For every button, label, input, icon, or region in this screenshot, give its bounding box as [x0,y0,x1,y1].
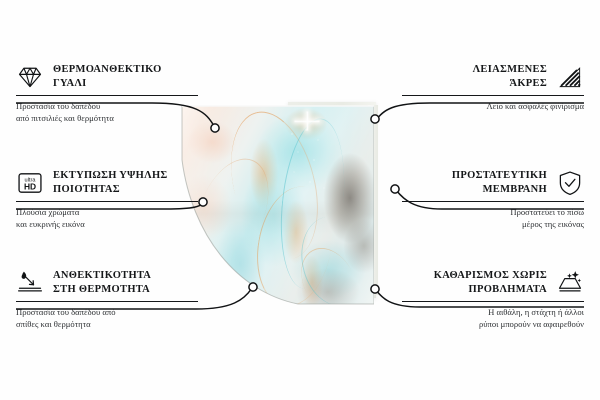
feature-title: ΠΡΟΣΤΑΤΕΥΤΙΚΗ ΜΕΜΒΡΑΝΗ [402,169,547,197]
diamond-icon [16,63,44,91]
ultra-hd-badge-bottom-text: HD [24,182,36,192]
glass-panel [178,96,374,306]
feature-header: ΠΡΟΣΤΑΤΕΥΤΙΚΗ ΜΕΜΒΡΑΝΗ [402,168,584,198]
feature-subtitle: Λείο και ασφαλές φινίρισμα [402,100,584,112]
feature-header: ΘΕΡΜΟΑΝΘΕΚΤΙΚΟ ΓΥΑΛΙ [16,62,198,92]
shield-check-icon [556,169,584,197]
glass-reflection-band [178,200,374,234]
feature-divider [16,201,198,202]
product-image [178,96,400,308]
feature-subtitle: Η αιθάλη, η στάχτη ή άλλοι ρύποι μπορούν… [402,306,584,330]
feature-header: ultra HD ΕΚΤΥΠΩΣΗ ΥΨΗΛΗΣ ΠΟΙΟΤΗΤΑΣ [16,168,198,198]
feature-title: ΘΕΡΜΟΑΝΘΕΚΤΙΚΟ ΓΥΑΛΙ [53,63,198,91]
sparkle-clean-surface-icon [556,269,584,297]
feature-header: ΚΑΘΑΡΙΣΜΟΣ ΧΩΡΙΣ ΠΡΟΒΛΗΜΑΤΑ [402,268,584,298]
feature-subtitle: Προστασία του δαπέδου από σπίθες και θερ… [16,306,198,330]
polished-edges-icon [556,63,584,91]
feature-high-quality-print: ultra HD ΕΚΤΥΠΩΣΗ ΥΨΗΛΗΣ ΠΟΙΟΤΗΤΑΣ Πλούσ… [16,168,198,230]
feature-protective-membrane: ΠΡΟΣΤΑΤΕΥΤΙΚΗ ΜΕΜΒΡΑΝΗ Προστατεύει το πί… [402,168,584,230]
feature-divider [16,301,198,302]
ultra-hd-badge-icon: ultra HD [16,169,44,197]
flame-heat-resistance-icon [16,269,44,297]
feature-heat-resistant-glass: ΘΕΡΜΟΑΝΘΕΚΤΙΚΟ ΓΥΑΛΙ Προστασία του δαπέδ… [16,62,198,124]
feature-title: ΕΚΤΥΠΩΣΗ ΥΨΗΛΗΣ ΠΟΙΟΤΗΤΑΣ [53,169,198,197]
feature-polished-edges: ΛΕΙΑΣΜΕΝΕΣ ΆΚΡΕΣ Λείο και ασφαλές φινίρι… [402,62,584,112]
feature-title: ΑΝΘΕΚΤΙΚΟΤΗΤΑ ΣΤΗ ΘΕΡΜΟΤΗΤΑ [53,269,198,297]
feature-header: ΛΕΙΑΣΜΕΝΕΣ ΆΚΡΕΣ [402,62,584,92]
feature-divider [402,301,584,302]
infographic-canvas: ΘΕΡΜΟΑΝΘΕΚΤΙΚΟ ΓΥΑΛΙ Προστασία του δαπέδ… [0,0,600,400]
feature-easy-cleaning: ΚΑΘΑΡΙΣΜΟΣ ΧΩΡΙΣ ΠΡΟΒΛΗΜΑΤΑ Η αιθάλη, η … [402,268,584,330]
feature-heat-resistance: ΑΝΘΕΚΤΙΚΟΤΗΤΑ ΣΤΗ ΘΕΡΜΟΤΗΤΑ Προστασία το… [16,268,198,330]
feature-divider [16,95,198,96]
feature-divider [402,95,584,96]
feature-divider [402,201,584,202]
feature-title: ΛΕΙΑΣΜΕΝΕΣ ΆΚΡΕΣ [402,63,547,91]
feature-header: ΑΝΘΕΚΤΙΚΟΤΗΤΑ ΣΤΗ ΘΕΡΜΟΤΗΤΑ [16,268,198,298]
feature-title: ΚΑΘΑΡΙΣΜΟΣ ΧΩΡΙΣ ΠΡΟΒΛΗΜΑΤΑ [402,269,547,297]
feature-subtitle: Προστατεύει το πίσω μέρος της εικόνας [402,206,584,230]
feature-subtitle: Προστασία του δαπέδου από πιτσιλιές και … [16,100,198,124]
feature-subtitle: Πλούσια χρώματα και ευκρινής εικόνα [16,206,198,230]
